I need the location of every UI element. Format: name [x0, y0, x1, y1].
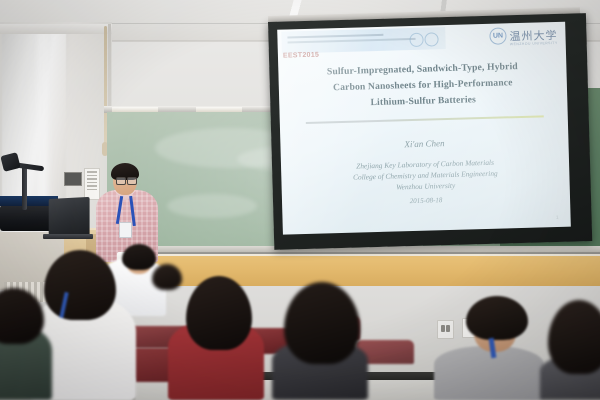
document-camera-stem	[22, 166, 27, 210]
presenter-laptop-screen	[49, 197, 90, 237]
slide-divider-rule	[306, 115, 544, 123]
power-outlet	[437, 320, 454, 339]
banner-logo-dots	[409, 31, 439, 46]
presenter-badge	[119, 222, 132, 238]
attendee-hair	[122, 244, 156, 270]
attendee-hair	[466, 296, 528, 340]
wall-notice	[84, 168, 100, 200]
conference-banner	[281, 27, 446, 54]
university-logo-mark: UN	[489, 27, 506, 44]
presenter-laptop-base	[43, 234, 93, 239]
soffit	[0, 24, 112, 34]
projection-screen-frame: EEST2015 UN 温州大学 WENZHOU UNIVERSITY Sulf…	[268, 13, 592, 250]
slide-page-number: 1	[556, 215, 559, 221]
slide-author: Xi'an Chen	[280, 135, 568, 153]
presentation-slide: EEST2015 UN 温州大学 WENZHOU UNIVERSITY Sulf…	[277, 22, 571, 235]
university-name-en: WENZHOU UNIVERSITY	[510, 41, 558, 46]
presenter-glasses	[116, 177, 136, 183]
lecture-room-photo: EEST2015 UN 温州大学 WENZHOU UNIVERSITY Sulf…	[0, 0, 600, 400]
wall-plaque	[64, 172, 82, 186]
attendee-hair	[152, 264, 182, 290]
attendee-torso	[434, 346, 544, 400]
conference-code: EEST2015	[283, 52, 319, 60]
slide-date: 2015-08-18	[282, 193, 570, 209]
slide-affiliation: Zhejiang Key Laboratory of Carbon Materi…	[281, 155, 570, 196]
slide-title: Sulfur-Impregnated, Sandwich-Type, Hybri…	[278, 58, 567, 114]
projection-screen-surface: EEST2015 UN 温州大学 WENZHOU UNIVERSITY Sulf…	[277, 22, 571, 235]
